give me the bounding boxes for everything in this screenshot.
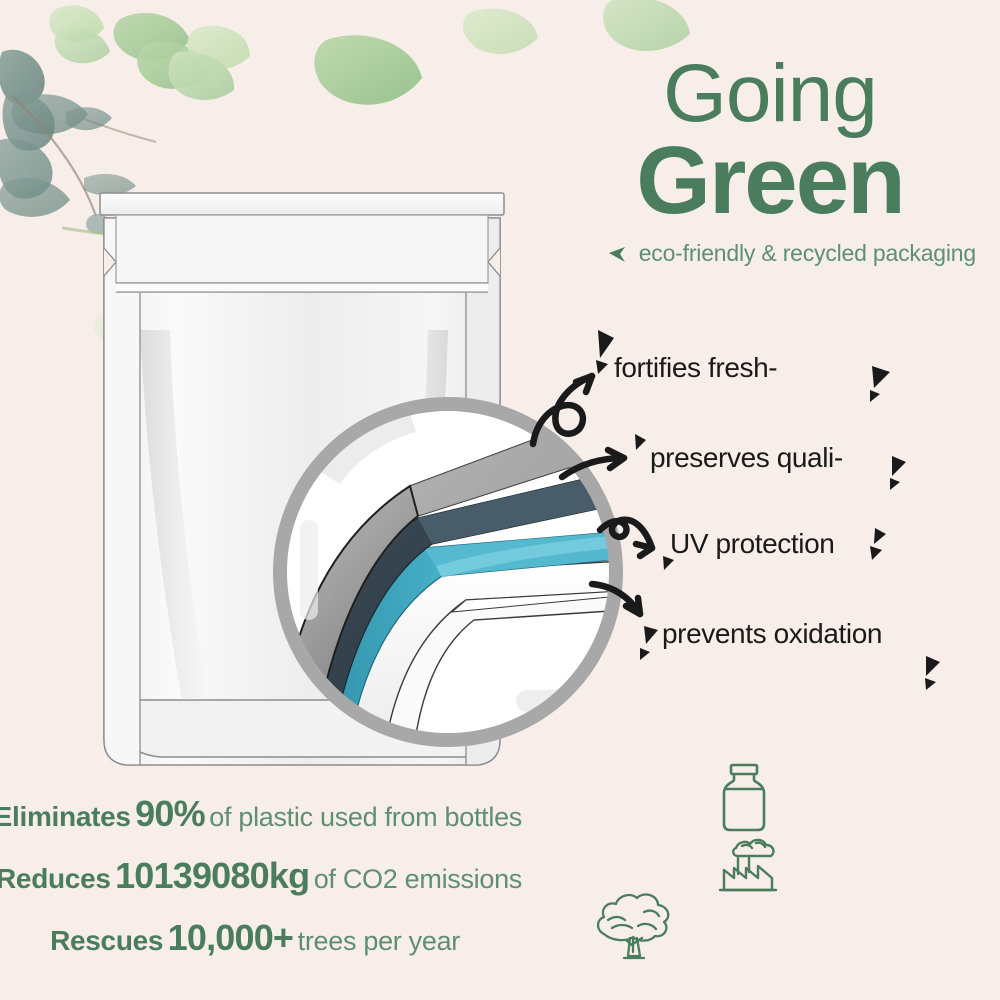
- stat-value-1: 10139080kg: [115, 855, 309, 896]
- annotation-label-fortifies: fortifies fresh-: [614, 352, 777, 384]
- annotation-label-uv-protection: UV protection: [670, 528, 834, 560]
- stat-tail-2: trees per year: [298, 926, 460, 956]
- subtitle: eco-friendly & recycled packaging: [639, 240, 976, 267]
- stat-lead-1: Reduces: [0, 863, 111, 894]
- stat-tail-1: of CO2 emissions: [314, 864, 522, 894]
- stat-tail-0: of plastic used from bottles: [209, 802, 522, 832]
- stat-lead-0: Eliminates: [0, 801, 131, 832]
- triangle-marker-icon: [607, 244, 629, 264]
- factory-icon: [716, 832, 778, 894]
- subtitle-row: eco-friendly & recycled packaging: [560, 240, 980, 267]
- page-title-line1: Going: [560, 55, 980, 133]
- stat-value-2: 10,000+: [168, 917, 294, 958]
- annotation-label-prevents-oxidation: prevents oxidation: [662, 618, 882, 650]
- tree-icon: [592, 890, 674, 962]
- annotation-label-preserves: preserves quali-: [650, 442, 843, 474]
- page-title-line2: Green: [560, 135, 980, 226]
- bottle-icon: [718, 762, 770, 834]
- header: Going Green eco-friendly & recycled pack…: [560, 55, 980, 267]
- infographic-canvas: Going Green eco-friendly & recycled pack…: [0, 0, 1000, 1000]
- stat-row-plastic: Eliminates 90% of plastic used from bott…: [0, 786, 760, 842]
- stat-value-0: 90%: [135, 793, 205, 834]
- stat-lead-2: Rescues: [50, 925, 163, 956]
